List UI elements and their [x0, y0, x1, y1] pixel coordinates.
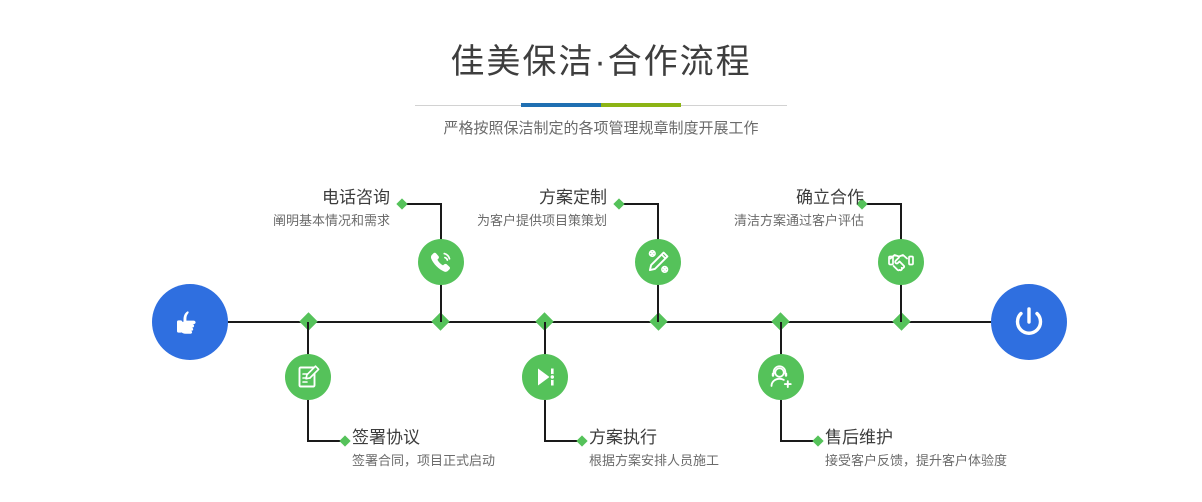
- step-dot-3: [613, 198, 624, 209]
- step-icon-6[interactable]: [758, 354, 804, 400]
- title-divider: [0, 101, 1202, 111]
- divider-segment-green: [601, 103, 681, 107]
- step-label-5: 确立合作 清洁方案通过客户评估: [734, 188, 864, 228]
- step-label-3: 方案定制 为客户提供项目策策划: [477, 188, 607, 228]
- step-stem-2: [307, 322, 309, 356]
- play-execute-icon: [531, 363, 559, 391]
- pointing-hand-icon: [170, 302, 210, 342]
- step-label-4: 方案执行 根据方案安排人员施工: [589, 428, 719, 468]
- page-title: 佳美保洁·合作流程: [0, 45, 1202, 79]
- step-elbow-h-5: [864, 203, 902, 205]
- step-name-3: 方案定制: [477, 188, 607, 208]
- handshake-icon: [887, 248, 915, 276]
- timeline-start-node[interactable]: [152, 284, 228, 360]
- step-elbow-h-1: [404, 203, 442, 205]
- step-elbow-v-3: [657, 203, 659, 237]
- step-desc-5: 清洁方案通过客户评估: [734, 214, 864, 229]
- step-icon-5[interactable]: [878, 239, 924, 285]
- step-name-5: 确立合作: [734, 188, 864, 208]
- step-icon-1[interactable]: [418, 239, 464, 285]
- step-desc-6: 接受客户反馈，提升客户体验度: [825, 454, 1007, 469]
- step-icon-2[interactable]: [285, 354, 331, 400]
- document-sign-icon: [294, 363, 322, 391]
- page-subtitle: 严格按照保洁制定的各项管理规章制度开展工作: [0, 121, 1202, 136]
- step-dot-6: [812, 435, 823, 446]
- divider-segment-blue: [521, 103, 601, 107]
- step-desc-2: 签署合同，项目正式启动: [352, 454, 495, 469]
- step-name-4: 方案执行: [589, 428, 719, 448]
- step-label-6: 售后维护 接受客户反馈，提升客户体验度: [825, 428, 1007, 468]
- step-stem-6: [780, 322, 782, 356]
- step-dot-2: [339, 435, 350, 446]
- step-desc-1: 阐明基本情况和需求: [273, 214, 390, 229]
- power-icon: [1008, 301, 1050, 343]
- step-icon-3[interactable]: [635, 239, 681, 285]
- step-elbow-v-1: [440, 203, 442, 237]
- step-name-6: 售后维护: [825, 428, 1007, 448]
- step-dot-4: [576, 435, 587, 446]
- step-desc-3: 为客户提供项目策策划: [477, 214, 607, 229]
- step-dot-1: [396, 198, 407, 209]
- customer-service-icon: [767, 363, 795, 391]
- step-elbow-v-4: [544, 400, 546, 441]
- step-icon-4[interactable]: [522, 354, 568, 400]
- step-elbow-h-3: [621, 203, 659, 205]
- step-label-1: 电话咨询 阐明基本情况和需求: [273, 188, 390, 228]
- step-elbow-v-5: [900, 203, 902, 237]
- step-label-2: 签署协议 签署合同，项目正式启动: [352, 428, 495, 468]
- pencil-design-icon: [644, 248, 672, 276]
- flowchart-page: 佳美保洁·合作流程 严格按照保洁制定的各项管理规章制度开展工作: [0, 0, 1202, 502]
- step-desc-4: 根据方案安排人员施工: [589, 454, 719, 469]
- step-elbow-v-6: [780, 400, 782, 441]
- step-stem-4: [544, 322, 546, 356]
- step-elbow-v-2: [307, 400, 309, 441]
- step-name-2: 签署协议: [352, 428, 495, 448]
- phone-call-icon: [427, 248, 455, 276]
- page-header: 佳美保洁·合作流程 严格按照保洁制定的各项管理规章制度开展工作: [0, 0, 1202, 136]
- step-name-1: 电话咨询: [273, 188, 390, 208]
- timeline-end-node[interactable]: [991, 284, 1067, 360]
